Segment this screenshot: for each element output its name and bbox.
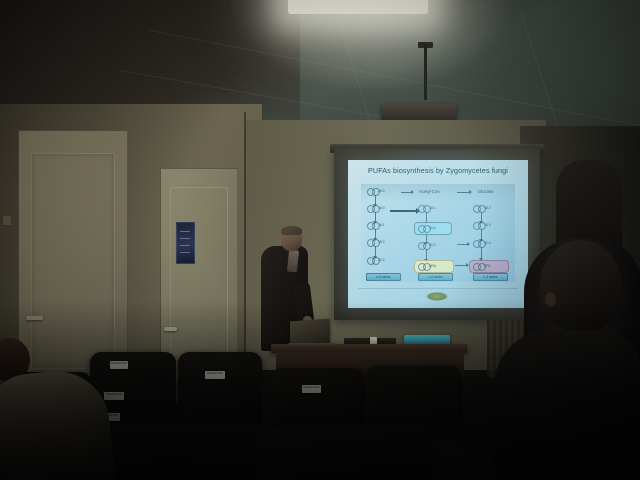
highlight-box-gla: GLA xyxy=(414,222,452,235)
wall-socket-icon xyxy=(2,215,12,226)
main-arrow xyxy=(390,210,416,212)
series-tag: n-9 series xyxy=(366,273,401,281)
slide-divider xyxy=(358,288,518,289)
label-glucose: Glucose xyxy=(478,189,493,194)
slide-title: PUFAs biosynthesis by Zygomycetes fungi xyxy=(348,167,528,175)
lecture-room-photo: PUFAs biosynthesis by Zygomycetes fungi … xyxy=(0,0,640,480)
highlight-box-epa: EPA xyxy=(469,260,509,273)
presenter-hair xyxy=(281,226,302,235)
label-acetyl-coa: Acetyl-CoA xyxy=(419,189,440,194)
molecule-node: 20:4 xyxy=(473,240,489,246)
audience-member-back-row xyxy=(556,160,622,250)
projected-slide: PUFAs biosynthesis by Zygomycetes fungi … xyxy=(348,160,528,308)
arrow xyxy=(375,195,376,204)
arrow xyxy=(401,192,411,193)
arrow xyxy=(375,212,376,221)
arrow xyxy=(457,244,467,245)
arrow xyxy=(426,212,427,222)
room-floor-shadow xyxy=(0,300,640,480)
arrow xyxy=(455,265,466,266)
molecule-node: 20:3 xyxy=(418,242,434,248)
door-information-plate xyxy=(176,222,195,264)
arrow xyxy=(375,246,376,256)
highlight-box-ara: ARA xyxy=(414,260,454,273)
arrow xyxy=(481,247,482,258)
arrow xyxy=(481,229,482,239)
projector-mount-rod xyxy=(424,44,427,100)
molecule-node: 18:2 xyxy=(367,239,383,245)
arrow xyxy=(481,212,482,221)
arrow xyxy=(426,249,427,259)
molecule-node: 16:0 xyxy=(367,188,383,194)
pathway-diagram: 16:0 Acetyl-CoA Glucose 18:0 18:1 18:2 2… xyxy=(361,184,515,282)
molecule-node: 18:1 xyxy=(367,222,383,228)
arrow xyxy=(375,229,376,238)
molecule-node: 20:2 xyxy=(367,257,383,263)
molecule-node: 18:2 xyxy=(473,205,489,211)
arrow xyxy=(426,234,427,242)
molecule-node: 18:3 xyxy=(473,222,489,228)
molecule-node: 18:0 xyxy=(367,205,383,211)
molecule-node: 18:1 xyxy=(418,205,434,211)
series-tag: n-6 series xyxy=(418,273,453,281)
ceiling-light-icon xyxy=(288,0,428,14)
arrow xyxy=(457,192,469,193)
series-tag: n-3 series xyxy=(473,273,508,281)
